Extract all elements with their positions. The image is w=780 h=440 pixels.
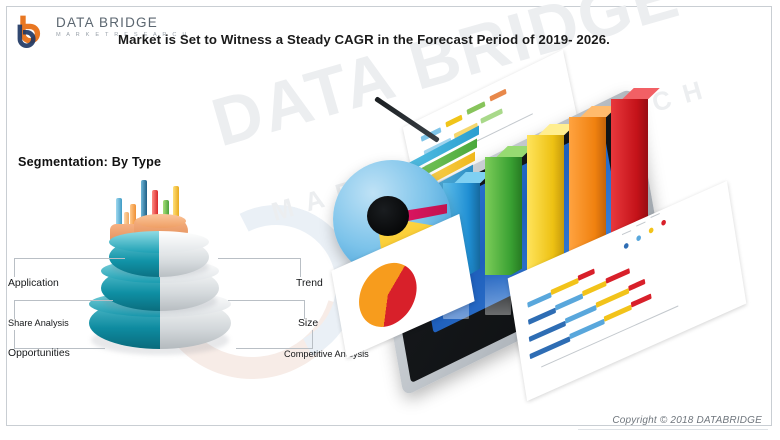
bar-2-green — [485, 157, 511, 275]
bar-3-yellow — [527, 135, 553, 275]
segment-label-trend: Trend — [296, 278, 323, 289]
tablet-analytics-illustration — [325, 55, 770, 355]
brand-name: DATA BRIDGE — [56, 15, 189, 30]
donut-center-hole — [367, 196, 409, 236]
segment-label-opportunities: Opportunities — [8, 348, 70, 359]
copyright-notice: Copyright © 2018 DATABRIDGE — [612, 415, 762, 426]
footer-divider — [578, 429, 768, 430]
segment-label-application: Application — [8, 278, 59, 289]
data-bridge-logo-icon — [14, 12, 50, 48]
segment-label-size: Size — [298, 318, 318, 329]
segment-label-share-analysis: Share Analysis — [8, 318, 69, 328]
connector-left-2 — [14, 300, 113, 319]
page-title: Market is Set to Witness a Steady CAGR i… — [118, 32, 678, 47]
connector-right-1 — [218, 258, 301, 277]
segmentation-heading: Segmentation: By Type — [18, 155, 161, 169]
connector-right-3 — [236, 330, 313, 349]
poster-canvas: DATA BRIDGE MARKET RESEARCH DATA BRIDGE … — [0, 0, 780, 440]
connector-left-3 — [14, 330, 105, 349]
connector-right-2 — [228, 300, 305, 319]
orange-red-pie-chart — [354, 253, 421, 337]
connector-left-1 — [14, 258, 125, 277]
